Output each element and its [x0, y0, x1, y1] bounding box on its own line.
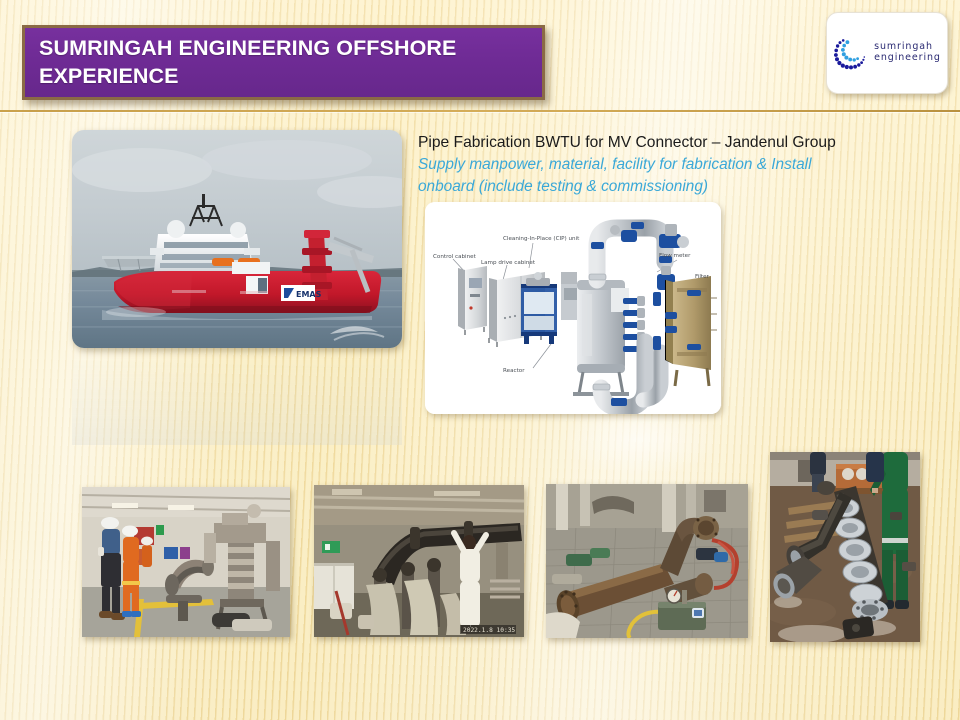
slide-title-plaque: SUMRINGAH ENGINEERING OFFSHORE EXPERIENC…: [22, 25, 545, 100]
offshore-support-vessel-photo[interactable]: EMAS: [72, 130, 402, 348]
pipe-installation-scene: 2022.1.8 10:35: [314, 485, 524, 637]
content-text-block: Pipe Fabrication BWTU for MV Connector –…: [418, 133, 918, 197]
page-title: SUMRINGAH ENGINEERING OFFSHORE EXPERIENC…: [25, 35, 542, 89]
pipe-installation-onboard-photo[interactable]: 2022.1.8 10:35: [314, 485, 524, 637]
control-cabinet-graphic: [458, 266, 487, 335]
diagram-label-flow-meter: Flow meter: [659, 253, 691, 259]
pipe-spool-pressure-test-photo[interactable]: [546, 484, 748, 638]
workshop-spools-scene: [770, 452, 920, 642]
diagram-label-lamp-drive-cabinet: Lamp drive cabinet: [481, 260, 536, 266]
logo-wordmark: sumringah engineering: [874, 42, 941, 63]
diagram-label-cip-unit: Cleaning-In-Place (CIP) unit: [503, 236, 580, 242]
content-subheading-line-2: onboard (include testing & commissioning…: [418, 177, 918, 197]
bwtu-equipment-diagram: Control cabinet Lamp drive cabinet Clean…: [425, 202, 721, 414]
title-divider-rule: [0, 110, 960, 112]
content-heading: Pipe Fabrication BWTU for MV Connector –…: [418, 133, 918, 153]
photo-timestamp: 2022.1.8 10:35: [463, 627, 515, 634]
svg-text:EMAS: EMAS: [296, 290, 322, 299]
logo-line-2: engineering: [874, 53, 941, 64]
content-subheading-line-1: Supply manpower, material, facility for …: [418, 155, 918, 175]
sumringah-swirl-icon: [831, 33, 871, 73]
fabricated-pipe-spools-workshop-photo[interactable]: [770, 452, 920, 642]
background-reflection-smear: [560, 416, 720, 476]
diagram-label-control-cabinet: Control cabinet: [433, 254, 477, 260]
engine-room-crew-photo[interactable]: [82, 487, 290, 637]
vessel-scene-reflection: [72, 349, 402, 445]
engine-room-crew-scene: [82, 487, 290, 637]
bwtu-diagram-panel[interactable]: Control cabinet Lamp drive cabinet Clean…: [425, 202, 721, 414]
ship-photo-reflection: [72, 349, 402, 445]
diagram-label-reactor: Reactor: [503, 368, 525, 374]
pressure-test-scene: [546, 484, 748, 638]
brand-logo-card[interactable]: sumringah engineering: [826, 12, 948, 94]
vessel-scene: EMAS: [72, 130, 402, 348]
slide-canvas: SUMRINGAH ENGINEERING OFFSHORE EXPERIENC…: [0, 0, 960, 720]
logo-inner: sumringah engineering: [831, 33, 941, 73]
diagram-label-filter: Filter: [695, 274, 710, 280]
